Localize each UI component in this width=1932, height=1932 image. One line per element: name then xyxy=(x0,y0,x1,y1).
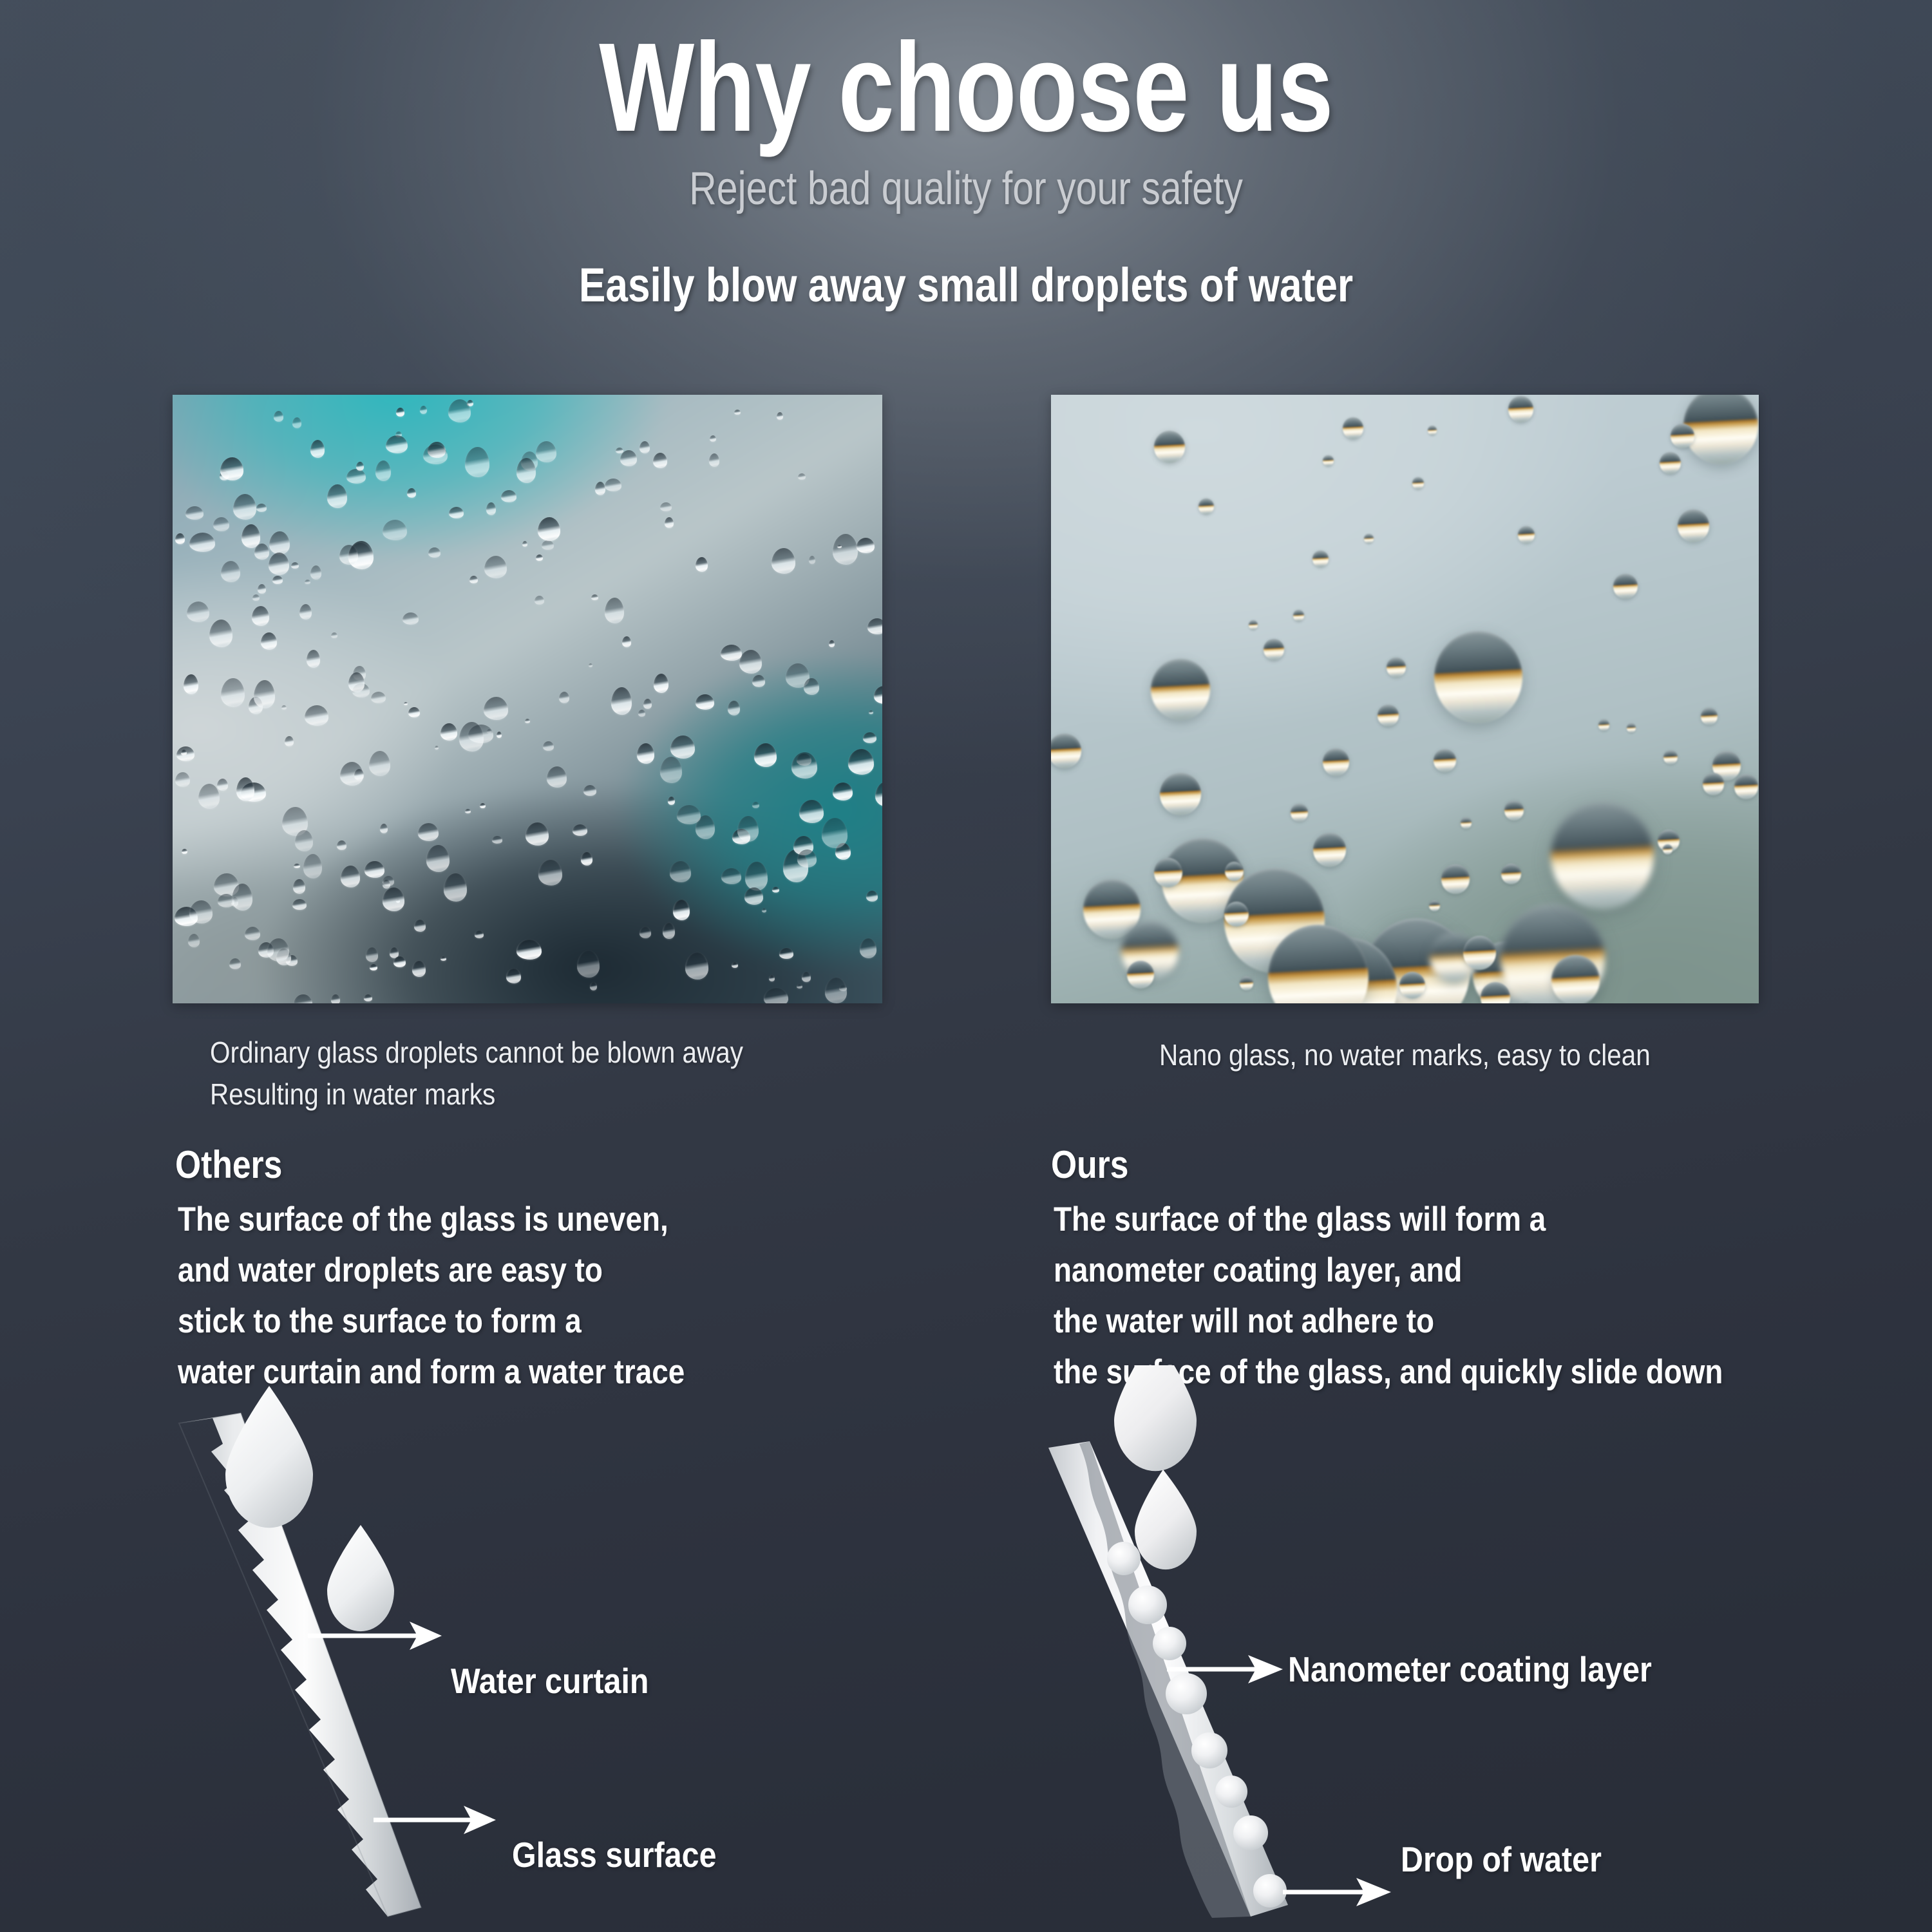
rain-droplet xyxy=(469,576,478,583)
rain-droplet xyxy=(294,864,300,868)
rain-droplet xyxy=(337,840,346,850)
rain-droplet xyxy=(380,824,388,833)
rain-droplet xyxy=(797,849,817,867)
rain-droplet xyxy=(591,594,598,600)
beaded-droplet xyxy=(1701,708,1718,725)
diagram-label-glass-surface: Glass surface xyxy=(512,1834,716,1875)
rain-droplet xyxy=(233,494,256,520)
rain-droplet xyxy=(535,596,544,605)
rain-droplet xyxy=(822,818,848,848)
rain-droplet xyxy=(638,710,645,717)
rain-droplet xyxy=(175,533,185,544)
beaded-droplet xyxy=(1387,658,1406,677)
rain-droplet xyxy=(299,604,312,620)
rain-droplet xyxy=(209,620,232,647)
rain-droplet xyxy=(184,674,198,694)
nano-glass-photo xyxy=(1051,395,1759,1003)
ordinary-glass-photo xyxy=(173,395,882,1003)
diagram-label-nanometer-coating-layer: Nanometer coating layer xyxy=(1288,1649,1652,1690)
beaded-droplet xyxy=(1504,800,1524,820)
rain-droplet xyxy=(408,707,420,717)
rain-droplet xyxy=(728,701,740,715)
beaded-droplet xyxy=(1428,426,1437,435)
rain-droplet xyxy=(293,879,305,894)
water-droplet-shapes xyxy=(225,1386,394,1631)
rain-droplet xyxy=(857,538,875,553)
rain-droplet xyxy=(710,435,716,442)
rain-droplet xyxy=(241,524,260,548)
rain-droplet xyxy=(863,732,876,743)
rain-droplet xyxy=(595,482,605,495)
beaded-droplet xyxy=(1151,659,1210,720)
rain-droplet xyxy=(188,934,200,947)
rain-droplet xyxy=(365,861,384,878)
rain-droplet xyxy=(484,697,508,720)
beaded-droplet xyxy=(1154,431,1185,463)
rain-droplet xyxy=(486,502,496,515)
rain-droplet xyxy=(354,769,364,781)
rain-droplet xyxy=(860,938,876,958)
rain-droplet xyxy=(480,803,486,808)
rain-droplet xyxy=(542,540,554,550)
rain-droplet xyxy=(331,994,340,1003)
rain-droplet xyxy=(295,830,313,851)
rain-droplet xyxy=(583,785,596,796)
beaded-droplet xyxy=(1240,976,1253,990)
rain-droplet xyxy=(331,632,337,638)
rain-droplet xyxy=(310,440,325,458)
rain-droplet xyxy=(229,958,241,969)
rain-droplet xyxy=(182,849,187,854)
rain-droplet xyxy=(449,507,464,518)
rain-droplet xyxy=(797,984,802,989)
rain-droplet xyxy=(440,956,446,961)
rain-droplet xyxy=(254,680,275,708)
rain-droplet xyxy=(536,554,543,561)
rain-droplet xyxy=(396,408,404,417)
beaded-droplet xyxy=(1323,455,1334,466)
rain-droplet xyxy=(663,923,675,939)
rain-droplet xyxy=(383,880,390,889)
rain-droplet xyxy=(754,743,777,767)
rain-droplet xyxy=(305,580,310,584)
rain-droplet xyxy=(217,779,228,791)
photo-caption-left: Ordinary glass droplets cannot be blown … xyxy=(210,1032,743,1116)
rain-droplet xyxy=(181,750,187,755)
rain-droplet xyxy=(762,908,766,913)
rain-droplet xyxy=(605,598,624,623)
rain-droplet xyxy=(339,545,358,565)
rain-droplet xyxy=(423,444,448,464)
rain-droplet xyxy=(501,490,516,502)
rain-droplet xyxy=(622,636,631,647)
rain-droplet xyxy=(791,752,817,779)
rain-droplet xyxy=(435,746,439,750)
rain-droplet xyxy=(327,484,347,508)
beaded-droplet xyxy=(1160,773,1201,815)
rain-droplet xyxy=(833,782,853,800)
rain-droplet xyxy=(245,927,260,940)
rain-droplet xyxy=(611,687,632,715)
rain-droplet xyxy=(292,899,307,910)
beaded-droplet xyxy=(1434,749,1456,772)
beaded-droplet xyxy=(1678,509,1709,542)
beaded-droplet xyxy=(1627,723,1636,733)
rain-droplet xyxy=(665,517,674,528)
rain-droplet xyxy=(375,460,391,481)
rain-droplet xyxy=(267,938,289,961)
beaded-droplet xyxy=(1441,864,1470,894)
rain-droplet xyxy=(465,447,489,477)
rain-droplet xyxy=(752,675,765,687)
rain-droplet xyxy=(577,951,600,978)
rain-droplet xyxy=(440,723,457,741)
rain-droplet xyxy=(418,823,439,841)
rain-droplet xyxy=(829,640,835,647)
rain-droplet xyxy=(772,548,795,574)
rain-droplet xyxy=(198,784,220,809)
rain-droplet xyxy=(269,553,289,575)
rain-droplet xyxy=(348,672,365,692)
rain-droplet xyxy=(285,736,294,746)
beaded-droplet xyxy=(1249,620,1258,630)
rain-droplet xyxy=(426,845,450,872)
rain-droplet xyxy=(637,743,654,764)
rain-droplet xyxy=(369,751,390,776)
rain-droplet xyxy=(232,884,252,911)
rain-droplet xyxy=(475,931,484,938)
header: Why choose us Reject bad quality for you… xyxy=(0,0,1932,312)
rain-droplet xyxy=(777,412,783,420)
rain-droplet xyxy=(639,441,650,453)
rain-droplet xyxy=(559,692,569,703)
rain-droplet xyxy=(459,722,484,752)
rain-droplet xyxy=(769,975,775,981)
beaded-droplet xyxy=(1501,864,1521,884)
rain-droplet xyxy=(737,816,759,842)
rain-droplet xyxy=(639,927,651,938)
rain-droplet xyxy=(721,868,741,884)
section-heading: Easily blow away small droplets of water xyxy=(155,215,1777,312)
rain-droplet xyxy=(833,534,858,565)
rain-droplet xyxy=(522,541,527,547)
beaded-droplet xyxy=(1291,804,1308,822)
rain-droplet xyxy=(547,766,567,788)
rain-droplet xyxy=(303,854,322,878)
rain-droplet xyxy=(516,458,536,483)
rain-droplet xyxy=(220,457,243,480)
rain-droplet xyxy=(407,488,416,498)
rain-droplet xyxy=(404,702,408,705)
rain-droplet xyxy=(292,417,301,428)
beaded-droplet xyxy=(1224,902,1249,927)
rain-droplet xyxy=(383,887,404,911)
page-title: Why choose us xyxy=(193,0,1739,152)
rain-droplet xyxy=(809,556,815,564)
rain-droplet xyxy=(484,556,507,578)
rain-droplet xyxy=(869,710,873,714)
rain-droplet xyxy=(272,576,283,584)
rain-droplet xyxy=(492,836,502,844)
diagram-label-drop-of-water: Drop of water xyxy=(1401,1839,1602,1880)
rain-droplet xyxy=(221,678,245,707)
beaded-droplet xyxy=(1703,773,1724,795)
rain-droplet xyxy=(393,956,406,967)
rain-droplet xyxy=(525,719,530,723)
rain-droplet xyxy=(673,900,690,920)
rain-droplet xyxy=(653,453,667,468)
beaded-droplet xyxy=(1551,802,1654,909)
beaded-droplet xyxy=(1598,719,1609,731)
rain-droplet xyxy=(366,947,378,962)
beaded-droplet xyxy=(1412,477,1424,489)
beaded-droplet xyxy=(1463,936,1496,970)
rain-droplet xyxy=(605,478,621,491)
rain-droplet xyxy=(643,699,652,709)
rain-droplet xyxy=(402,612,419,625)
rain-droplet xyxy=(739,650,762,674)
photo-caption-right: Nano glass, no water marks, easy to clea… xyxy=(1159,1034,1651,1076)
rain-droplet xyxy=(804,678,819,695)
column-body-others: The surface of the glass is uneven, and … xyxy=(178,1195,846,1398)
rain-droplet xyxy=(581,852,592,866)
beaded-droplet xyxy=(1518,526,1535,544)
rain-droplet xyxy=(371,692,386,703)
rain-droplet xyxy=(802,972,811,982)
rain-droplet xyxy=(307,650,320,668)
arrow-drop-of-water xyxy=(1283,1878,1391,1906)
rain-droplet xyxy=(516,940,542,960)
rain-droplet xyxy=(848,749,874,775)
rain-droplet xyxy=(745,862,768,891)
diagram-label-water-curtain: Water curtain xyxy=(451,1660,649,1701)
beaded-droplet xyxy=(1264,639,1284,660)
rain-droplet xyxy=(221,561,240,582)
rain-droplet xyxy=(654,674,668,693)
rain-droplet xyxy=(448,399,471,422)
rain-droplet xyxy=(779,948,793,959)
beaded-droplet xyxy=(1127,961,1154,989)
rain-droplet xyxy=(428,547,440,558)
rain-droplet xyxy=(274,411,283,422)
rain-droplet xyxy=(677,805,701,824)
rain-droplet xyxy=(412,961,426,977)
beaded-droplet xyxy=(1198,498,1214,515)
rain-droplet xyxy=(573,824,587,836)
beaded-droplet xyxy=(1613,574,1638,599)
beaded-droplet xyxy=(1225,862,1244,881)
rain-droplet xyxy=(660,502,672,511)
rain-droplet xyxy=(341,866,360,887)
rain-droplet xyxy=(383,520,407,540)
beaded-droplet xyxy=(1343,417,1363,439)
rain-droplet xyxy=(734,410,741,415)
rain-droplet xyxy=(798,473,806,480)
rain-droplet xyxy=(291,562,299,569)
beaded-droplet xyxy=(1508,396,1533,422)
rain-droplet xyxy=(744,887,763,905)
rain-droplet xyxy=(825,978,847,1003)
rain-droplet xyxy=(414,920,426,932)
rain-droplet xyxy=(590,982,597,990)
rain-droplet xyxy=(837,545,842,548)
beaded-droplet xyxy=(1313,833,1346,867)
rain-droplet xyxy=(709,453,719,467)
rain-droplet xyxy=(364,994,372,1001)
photo-background xyxy=(173,395,882,1003)
rain-droplet xyxy=(356,462,364,471)
rain-droplet xyxy=(213,517,229,531)
beaded-droplet xyxy=(1364,534,1374,544)
rain-droplet xyxy=(189,900,213,923)
rain-droplet xyxy=(258,584,266,594)
rain-droplet xyxy=(252,606,269,626)
rain-droplet xyxy=(536,441,556,462)
rain-droplet xyxy=(236,777,254,801)
rain-droplet xyxy=(543,741,554,751)
rain-droplet xyxy=(189,533,215,552)
beaded-droplet xyxy=(1734,774,1758,799)
rain-droplet xyxy=(252,594,260,601)
rain-droplet xyxy=(538,860,562,885)
rain-droplet xyxy=(256,504,267,512)
rain-droplet xyxy=(261,632,277,650)
beaded-droplet xyxy=(1671,424,1694,448)
rain-droplet xyxy=(310,565,321,580)
rain-droplet xyxy=(269,531,290,554)
rain-droplet xyxy=(660,757,682,783)
rain-droplet xyxy=(538,517,560,541)
rain-droplet xyxy=(370,964,377,971)
infographic-page: Why choose us Reject bad quality for you… xyxy=(0,0,1932,1932)
rain-droplet xyxy=(497,732,502,738)
rain-droplet xyxy=(506,969,521,983)
rain-droplet xyxy=(175,772,190,787)
column-title-ours: Ours xyxy=(1051,1142,1128,1187)
beaded-droplet xyxy=(1461,817,1472,829)
rain-droplet xyxy=(670,735,695,759)
rain-droplet xyxy=(620,450,637,466)
rain-droplet xyxy=(772,887,779,893)
rain-droplet xyxy=(696,694,714,710)
rain-droplet xyxy=(867,618,882,634)
rain-droplet xyxy=(386,435,408,453)
rain-droplet xyxy=(281,705,287,710)
beaded-droplet xyxy=(1399,972,1425,999)
rain-droplet xyxy=(305,705,328,726)
beaded-droplet xyxy=(1312,551,1329,567)
rain-droplet xyxy=(420,406,427,414)
beaded-droplet xyxy=(1154,858,1182,887)
rain-droplet xyxy=(732,962,738,968)
beaded-droplet xyxy=(1663,750,1678,764)
beaded-droplet xyxy=(1663,844,1672,855)
rain-droplet xyxy=(670,861,691,882)
beaded-droplet xyxy=(1323,748,1349,776)
rain-droplet xyxy=(696,557,708,572)
page-subtitle: Reject bad quality for your safety xyxy=(174,152,1758,215)
rain-droplet xyxy=(721,645,742,661)
rain-droplet xyxy=(187,601,209,622)
rain-droplet xyxy=(185,506,204,520)
beaded-droplet xyxy=(1378,705,1399,726)
rain-droplet xyxy=(465,809,471,813)
rain-droplet xyxy=(752,802,759,808)
beaded-droplet xyxy=(1293,610,1304,621)
rain-droplet xyxy=(444,873,467,902)
rain-droplet xyxy=(346,469,366,484)
rain-droplet xyxy=(589,663,592,667)
beaded-droplet xyxy=(1551,955,1600,1003)
rain-droplet xyxy=(685,952,708,980)
rain-droplet xyxy=(526,822,549,846)
rain-droplet xyxy=(866,891,878,902)
column-title-others: Others xyxy=(175,1142,282,1187)
rain-droplet xyxy=(668,797,675,805)
rain-droplet xyxy=(799,800,824,823)
beaded-droplet xyxy=(1434,631,1522,723)
beaded-droplet xyxy=(1660,452,1681,474)
beaded-droplet xyxy=(1429,900,1440,911)
